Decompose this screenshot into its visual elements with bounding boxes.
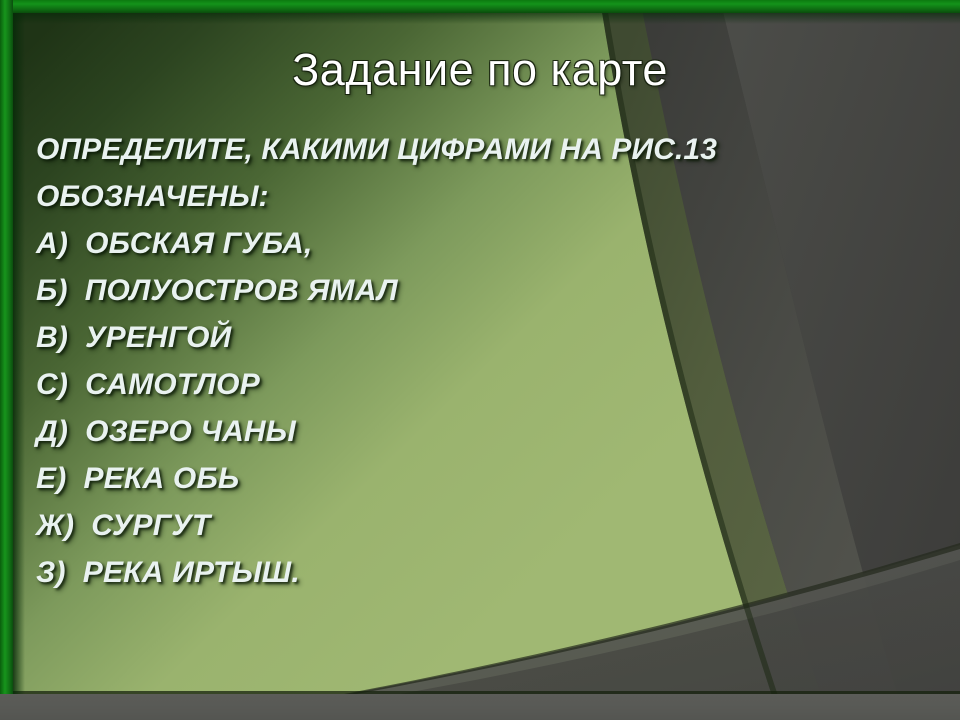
list-item-d: Д) ОЗЕРО ЧАНЫ [36,408,896,455]
list-item-b: Б) ПОЛУОСТРОВ ЯМАЛ [36,267,896,314]
prompt-line-1: ОПРЕДЕЛИТЕ, КАКИМИ ЦИФРАМИ НА РИС.13 [36,126,896,173]
prompt-line-2: ОБОЗНАЧЕНЫ: [36,173,896,220]
list-item-a: А) ОБСКАЯ ГУБА, [36,220,896,267]
task-list: ОПРЕДЕЛИТЕ, КАКИМИ ЦИФРАМИ НА РИС.13 ОБО… [36,126,896,596]
list-item-s: С) САМОТЛОР [36,361,896,408]
slide-content: Задание по карте ОПРЕДЕЛИТЕ, КАКИМИ ЦИФР… [0,0,960,720]
list-item-e: Е) РЕКА ОБЬ [36,455,896,502]
list-item-zh: Ж) СУРГУТ [36,502,896,549]
slide-canvas: Задание по карте ОПРЕДЕЛИТЕ, КАКИМИ ЦИФР… [0,0,960,720]
list-item-v: В) УРЕНГОЙ [36,314,896,361]
list-item-z: З) РЕКА ИРТЫШ. [36,549,896,596]
slide-title: Задание по карте [0,44,960,96]
